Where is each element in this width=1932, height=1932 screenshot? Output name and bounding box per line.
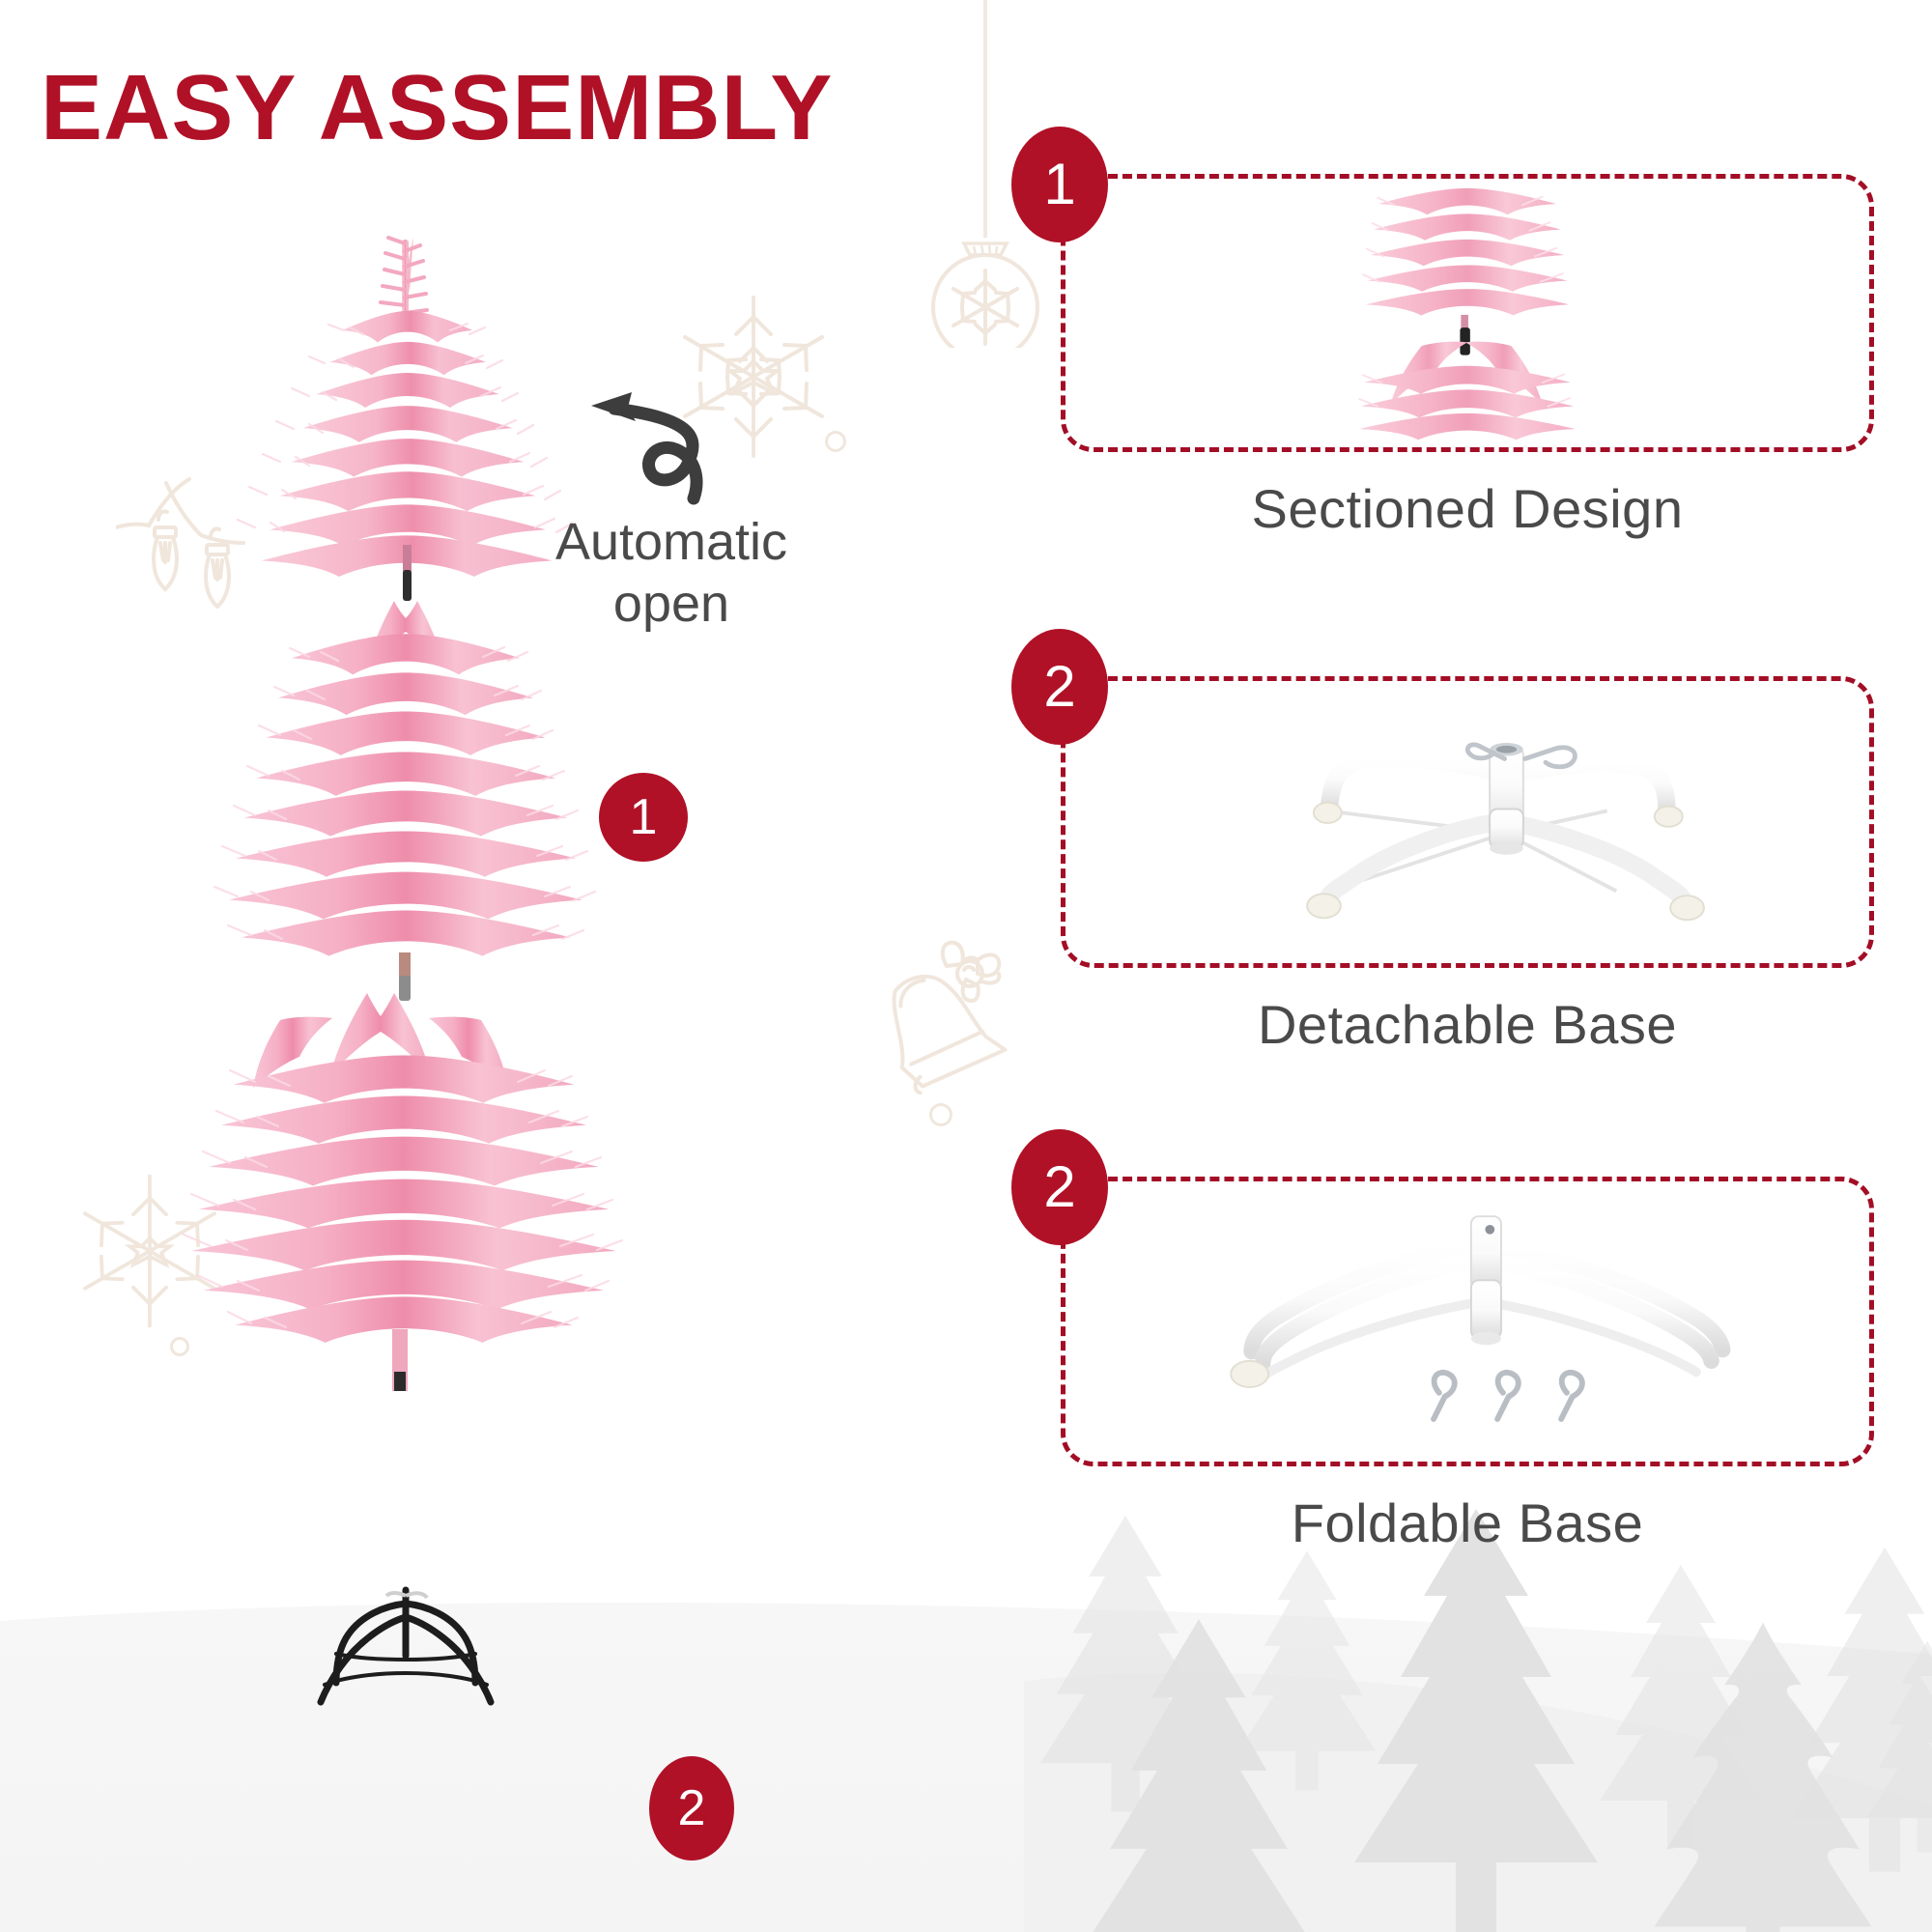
feature-card-sectioned-design: 1 [1061, 174, 1874, 540]
snow-ridge [1024, 1672, 1932, 1932]
card-label-foldable-base: Foldable Base [1061, 1492, 1874, 1554]
feature-card-detachable-base: 2 [1061, 676, 1874, 1056]
feature-card-foldable-base: 2 [1061, 1177, 1874, 1554]
card-dashed-frame: 1 [1061, 174, 1874, 452]
automatic-open-caption: Automatic open [512, 512, 831, 635]
black-tree-stand [290, 1584, 522, 1719]
sectioned-tree-photo [1065, 179, 1869, 447]
foldable-base-photo [1065, 1181, 1869, 1462]
card-badge-2: 2 [1011, 629, 1108, 745]
infographic-canvas: EASY ASSEMBLY [0, 0, 1932, 1932]
card-label-sectioned-design: Sectioned Design [1061, 477, 1874, 540]
curly-arrow-left-icon [580, 384, 773, 510]
step-badge-1: 1 [599, 773, 688, 862]
pine-tree-silhouettes [1040, 1509, 1932, 1932]
caption-line-1: Automatic [512, 512, 831, 574]
dot-decoration [825, 431, 846, 452]
card-dashed-frame: 2 [1061, 1177, 1874, 1466]
bell-icon [850, 927, 1024, 1101]
card-dashed-frame: 2 [1061, 676, 1874, 968]
page-title: EASY ASSEMBLY [41, 60, 833, 157]
card-badge-3: 2 [1011, 1129, 1108, 1245]
step-badge-2: 2 [649, 1756, 734, 1861]
card-badge-1: 1 [1011, 127, 1108, 242]
caption-line-2: open [512, 574, 831, 636]
dot-decoration [929, 1103, 952, 1126]
card-label-detachable-base: Detachable Base [1061, 993, 1874, 1056]
tree-middle-section [193, 597, 618, 1003]
tree-bottom-section [162, 985, 645, 1391]
detachable-base-photo [1065, 681, 1869, 963]
